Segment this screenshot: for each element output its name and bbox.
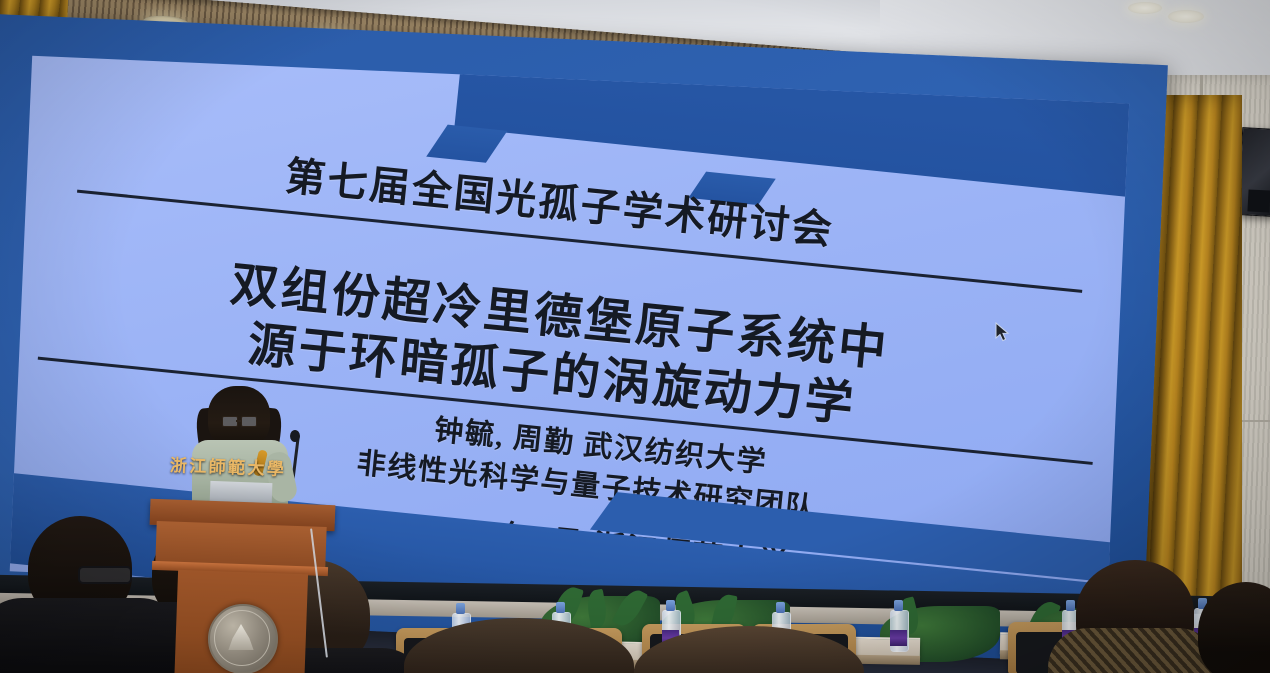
audience-patterned-jacket [1048,628,1218,673]
podium-sign-text: 浙江師範大學 [170,451,287,480]
gooseneck-microphone-head [290,430,300,442]
podium-and-presenter: 浙江師範大學 [150,378,335,628]
presenter-glasses-bridge [236,420,241,422]
downlight-1 [1128,2,1162,14]
presenter-glasses-right-lens [241,416,257,427]
slide-accent-notch-left [426,125,507,163]
presenter-hair-top [208,386,270,448]
loudspeaker-driver [1247,189,1270,212]
conference-photo-scene: 第七届全国光孤子学术研讨会 双组份超冷里德堡原子系统中 源于环暗孤子的涡旋动力学… [0,0,1270,673]
downlight-2 [1168,10,1204,23]
audience-glasses [78,566,132,584]
water-bottle [890,600,907,652]
